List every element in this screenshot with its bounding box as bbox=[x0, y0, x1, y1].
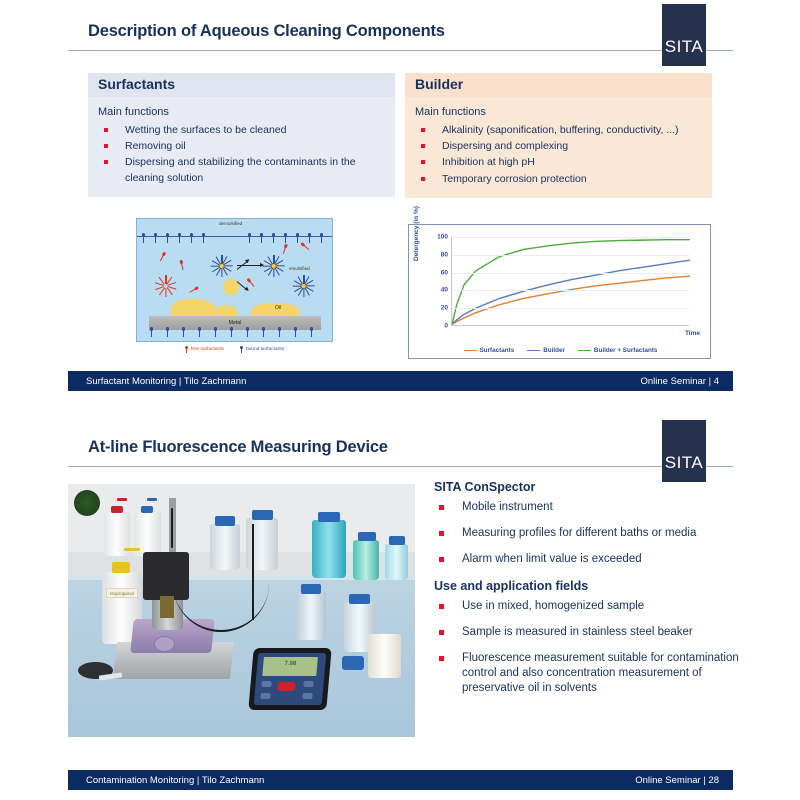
teal-solution-bottle bbox=[312, 520, 346, 578]
chart-curves bbox=[452, 237, 690, 326]
isopropanol-bottle-spout bbox=[124, 548, 140, 551]
list-item-label: Dispersing and stabilizing the contamina… bbox=[125, 156, 356, 183]
panel-builder-bullets: Alkalinity (saponification, buffering, c… bbox=[415, 123, 704, 187]
bullet-square-icon bbox=[421, 160, 425, 164]
wash-bottle-blue-spout bbox=[147, 498, 157, 501]
list-item: Sample is measured in stainless steel be… bbox=[434, 625, 744, 640]
list-item-label: Removing oil bbox=[125, 140, 186, 152]
chart-y-tick-label: 100 bbox=[437, 234, 448, 241]
bullet-square-icon bbox=[439, 630, 444, 635]
panel-builder-subheading: Main functions bbox=[415, 105, 704, 121]
bound-surfactant-molecule bbox=[279, 330, 280, 337]
list-item-label: Alkalinity (saponification, buffering, c… bbox=[442, 124, 679, 136]
legend-item-free-surfactants: free surfactants bbox=[185, 346, 224, 353]
list-item-label: Measuring profiles for different baths o… bbox=[462, 527, 696, 539]
list-item-label: Temporary corrosion protection bbox=[442, 173, 587, 185]
micelle-emulsified-2 bbox=[293, 275, 315, 297]
list-item: Dispersing and complexing bbox=[415, 139, 704, 154]
list-item-label: Mobile instrument bbox=[462, 501, 553, 513]
panel-builder-heading: Builder bbox=[405, 73, 712, 97]
header-divider bbox=[68, 466, 733, 467]
legend-label: free surfactants bbox=[191, 347, 224, 352]
bullet-square-icon bbox=[421, 128, 425, 132]
footer-left-text: Contamination Monitoring | Tilo Zachmann bbox=[86, 775, 264, 786]
handheld-faceplate: 7.98 bbox=[254, 653, 327, 705]
pale-solution-bottle bbox=[385, 544, 408, 580]
isopropanol-bottle-cap bbox=[112, 562, 130, 573]
chart-y-tick-label: 40 bbox=[441, 287, 448, 294]
probe-cable-lower bbox=[252, 524, 254, 620]
front-bottle-2-cap bbox=[349, 594, 370, 604]
bullet-square-icon bbox=[439, 604, 444, 609]
panel-surfactants: Surfactants Main functions Wetting the s… bbox=[88, 73, 395, 197]
bound-surfactant-molecule bbox=[179, 236, 180, 243]
sita-logo: SITA bbox=[662, 4, 706, 66]
panel-surfactants-heading: Surfactants bbox=[88, 73, 395, 97]
list-item-label: Inhibition at high pH bbox=[442, 156, 535, 168]
bullet-square-icon bbox=[421, 144, 425, 148]
probe-cable-loop bbox=[173, 508, 269, 632]
bound-surfactant-molecule bbox=[263, 330, 264, 337]
bound-surfactant-molecule bbox=[285, 236, 286, 243]
chart-gridline bbox=[452, 237, 689, 238]
page-title: Description of Aqueous Cleaning Componen… bbox=[88, 22, 445, 41]
bound-surfactant-molecule bbox=[231, 330, 232, 337]
handheld-start-button[interactable] bbox=[277, 682, 296, 691]
list-item-label: Alarm when limit value is exceeded bbox=[462, 553, 642, 565]
wash-bottle-blue-cap bbox=[141, 506, 153, 513]
free-surfactant-molecule bbox=[283, 247, 286, 254]
chart-y-tick-label: 0 bbox=[444, 323, 448, 330]
micelle-detaching bbox=[211, 255, 233, 277]
chart-gridline bbox=[452, 273, 689, 274]
list-item: Alarm when limit value is exceeded bbox=[434, 552, 744, 567]
chart-y-tick-label: 20 bbox=[441, 305, 448, 312]
legend-label: Surfactants bbox=[480, 347, 515, 354]
bound-surfactant-molecule bbox=[151, 330, 152, 337]
bullet-square-icon bbox=[439, 505, 444, 510]
free-surfactant-icon bbox=[185, 346, 188, 353]
legend-label: Builder + Surfactants bbox=[594, 347, 658, 354]
list-item-label: Dispersing and complexing bbox=[442, 140, 568, 152]
footer-right-text: Online Seminar | 28 bbox=[635, 775, 719, 786]
conspector-feature-list: Mobile instrument Measuring profiles for… bbox=[434, 500, 744, 568]
front-bottle-1-cap bbox=[301, 584, 321, 594]
slide-2-footer: Contamination Monitoring | Tilo Zachmann… bbox=[68, 770, 733, 790]
sita-logo: SITA bbox=[662, 420, 706, 482]
footer-right-text: Online Seminar | 4 bbox=[640, 376, 719, 387]
bound-surfactant-molecule bbox=[167, 236, 168, 243]
front-bottle-1 bbox=[296, 592, 326, 640]
diagram-label-metal: Metal bbox=[229, 320, 242, 326]
bound-surfactant-molecule bbox=[183, 330, 184, 337]
footer-left-text: Surfactant Monitoring | Tilo Zachmann bbox=[86, 376, 246, 387]
slide-2-content: SITA ConSpector Mobile instrument Measur… bbox=[434, 480, 744, 707]
bound-surfactant-molecule bbox=[143, 236, 144, 243]
chart-y-tick-label: 60 bbox=[441, 269, 448, 276]
stirrer-knob[interactable] bbox=[154, 636, 175, 652]
legend-item: Surfactants bbox=[464, 347, 515, 354]
probe-stem bbox=[160, 596, 174, 618]
list-item: Removing oil bbox=[98, 139, 387, 154]
bound-surfactant-molecule bbox=[261, 236, 262, 243]
chart-series-surfactants bbox=[452, 276, 690, 324]
diagram-label-emulsified: emulsified bbox=[289, 266, 310, 271]
wash-bottle-red-cap bbox=[111, 506, 123, 513]
bullet-square-icon bbox=[104, 144, 108, 148]
pale-solution-bottle-cap bbox=[389, 536, 405, 545]
panel-builder-body: Main functions Alkalinity (saponificatio… bbox=[405, 97, 712, 198]
section-heading-conspector: SITA ConSpector bbox=[434, 480, 744, 494]
chart-y-tick-label: 80 bbox=[441, 251, 448, 258]
petri-dish-culture bbox=[74, 490, 100, 516]
handheld-display: 7.98 bbox=[262, 657, 318, 676]
slide-1-footer: Surfactant Monitoring | Tilo Zachmann On… bbox=[68, 371, 733, 391]
legend-item: Builder + Surfactants bbox=[578, 347, 658, 354]
legend-label: bound surfactants bbox=[246, 347, 284, 352]
panel-surfactants-body: Main functions Wetting the surfaces to b… bbox=[88, 97, 395, 197]
wash-bottle-red-spout bbox=[117, 498, 127, 501]
bound-surfactant-molecule bbox=[297, 236, 298, 243]
list-item-label: Sample is measured in stainless steel be… bbox=[462, 626, 693, 638]
bullet-square-icon bbox=[104, 128, 108, 132]
chart-gridline bbox=[452, 308, 689, 309]
chart-x-axis-label: Time bbox=[685, 330, 700, 337]
list-item-label: Wetting the surfaces to be cleaned bbox=[125, 124, 287, 136]
handheld-button-right[interactable] bbox=[303, 681, 314, 687]
list-item-label: Fluorescence measurement suitable for co… bbox=[462, 652, 739, 694]
list-item-label: Use in mixed, homogenized sample bbox=[462, 600, 644, 612]
bound-surfactant-molecule bbox=[155, 236, 156, 243]
list-item: Mobile instrument bbox=[434, 500, 744, 515]
bound-surfactant-molecule bbox=[199, 330, 200, 337]
bound-surfactant-molecule bbox=[249, 236, 250, 243]
bound-surfactant-molecule bbox=[295, 330, 296, 337]
green-solution-bottle bbox=[353, 540, 379, 580]
bound-surfactant-icon bbox=[240, 346, 243, 353]
bullet-square-icon bbox=[439, 656, 444, 661]
list-item: Temporary corrosion protection bbox=[415, 172, 704, 187]
diagram-label-oil: Oil bbox=[275, 305, 281, 311]
bound-surfactant-molecule bbox=[311, 330, 312, 337]
handheld-button-left[interactable] bbox=[261, 681, 272, 687]
arrow-right bbox=[237, 265, 263, 266]
list-item: Use in mixed, homogenized sample bbox=[434, 599, 744, 614]
legend-item-bound-surfactants: bound surfactants bbox=[240, 346, 284, 353]
bound-surfactant-molecule bbox=[203, 236, 204, 243]
free-surfactant-molecule bbox=[249, 281, 254, 287]
list-item: Dispersing and stabilizing the contamina… bbox=[98, 155, 387, 185]
bullet-square-icon bbox=[439, 557, 444, 562]
bound-surfactant-molecule bbox=[309, 236, 310, 243]
legend-swatch bbox=[464, 350, 477, 352]
panel-surfactants-subheading: Main functions bbox=[98, 105, 387, 121]
free-surfactant-molecule bbox=[181, 263, 184, 270]
chart-series-builder bbox=[452, 260, 690, 324]
isopropanol-bottle-label: Isopropanol bbox=[106, 588, 138, 598]
bullet-square-icon bbox=[104, 160, 108, 164]
conspector-device-photo: Isopropanol 7.98 bbox=[68, 484, 415, 737]
loose-bottle-cap bbox=[342, 656, 364, 670]
bullet-square-icon bbox=[439, 531, 444, 536]
chart-series-builder-surfactants bbox=[452, 240, 690, 325]
panel-surfactants-bullets: Wetting the surfaces to be cleaned Remov… bbox=[98, 123, 387, 186]
surfactant-mechanism-diagram: demulsified emulsified Oil Metal bbox=[136, 218, 333, 342]
micelle-emulsified-1 bbox=[263, 255, 285, 277]
bound-surfactant-molecule bbox=[215, 330, 216, 337]
bound-surfactant-molecule bbox=[321, 236, 322, 243]
list-item: Alkalinity (saponification, buffering, c… bbox=[415, 123, 704, 138]
sita-logo-text: SITA bbox=[665, 453, 704, 473]
bound-surfactant-molecule bbox=[191, 236, 192, 243]
bound-surfactant-molecule bbox=[273, 236, 274, 243]
free-surfactant-molecule bbox=[303, 245, 309, 250]
green-solution-bottle-cap bbox=[358, 532, 376, 541]
teal-solution-bottle-cap bbox=[318, 512, 340, 522]
sita-logo-text: SITA bbox=[665, 37, 704, 57]
free-surfactant-molecule bbox=[160, 255, 164, 262]
list-item: Measuring profiles for different baths o… bbox=[434, 526, 744, 541]
chart-plot-area: 020406080100 bbox=[451, 237, 689, 326]
handheld-button-menu[interactable] bbox=[260, 693, 271, 699]
bullet-square-icon bbox=[421, 177, 425, 181]
list-item: Inhibition at high pH bbox=[415, 155, 704, 170]
detergency-chart: Detergency (in %) 020406080100 Time Surf… bbox=[408, 224, 711, 359]
list-item: Fluorescence measurement suitable for co… bbox=[434, 651, 744, 697]
oil-droplet-left bbox=[171, 299, 215, 317]
bound-surfactant-molecule bbox=[167, 330, 168, 337]
handheld-button-enter[interactable] bbox=[302, 693, 313, 699]
diagram-legend: free surfactants bound surfactants bbox=[136, 346, 333, 353]
micelle-free-red bbox=[155, 275, 177, 297]
legend-label: Builder bbox=[543, 347, 565, 354]
diagram-label-demulsified: demulsified bbox=[219, 221, 242, 226]
panel-builder: Builder Main functions Alkalinity (sapon… bbox=[405, 73, 712, 198]
legend-swatch bbox=[578, 350, 591, 352]
legend-item: Builder bbox=[527, 347, 565, 354]
list-item: Wetting the surfaces to be cleaned bbox=[98, 123, 387, 138]
milky-sample-jar bbox=[368, 634, 401, 678]
conspector-handheld-device[interactable]: 7.98 bbox=[248, 648, 331, 710]
chart-y-axis-label: Detergency (in %) bbox=[413, 206, 420, 261]
section-heading-use-fields: Use and application fields bbox=[434, 579, 744, 593]
page-title: At-line Fluorescence Measuring Device bbox=[88, 438, 388, 457]
header-divider bbox=[68, 50, 733, 51]
chart-gridline bbox=[452, 290, 689, 291]
chart-gridline bbox=[452, 255, 689, 256]
slide-description-of-aqueous-cleaning-components: Description of Aqueous Cleaning Componen… bbox=[0, 0, 800, 398]
chart-legend: SurfactantsBuilderBuilder + Surfactants bbox=[409, 347, 712, 354]
legend-swatch bbox=[527, 350, 540, 352]
bound-surfactant-molecule bbox=[247, 330, 248, 337]
free-surfactant-molecule bbox=[189, 288, 196, 293]
use-and-application-list: Use in mixed, homogenized sample Sample … bbox=[434, 599, 744, 697]
